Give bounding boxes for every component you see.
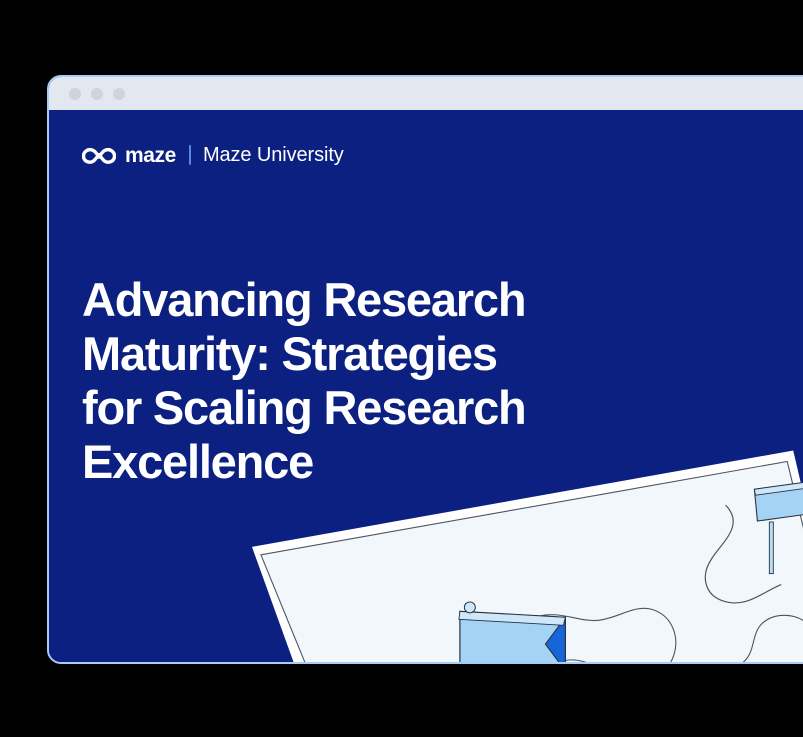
maze-logo-icon	[82, 145, 116, 165]
map-contents	[198, 505, 803, 662]
route-path-upper	[705, 505, 781, 603]
map-blob-right	[691, 615, 803, 662]
flag-face-foreground	[460, 611, 565, 662]
route-path-mid	[551, 646, 646, 662]
flag-background	[754, 480, 803, 573]
flag-finial-foreground	[464, 602, 475, 613]
maze-wordmark: maze	[125, 145, 176, 166]
brand-lockup: maze Maze University	[82, 142, 344, 168]
browser-title-bar	[49, 77, 803, 110]
flag-top-fold-foreground	[459, 611, 565, 625]
map-surface	[261, 461, 803, 662]
page-title: Advancing Research Maturity: Strategies …	[82, 273, 642, 489]
flag-face-background	[754, 481, 803, 521]
flag-shadow-shape	[751, 505, 803, 547]
flag-pole-background	[769, 522, 773, 574]
flag-foreground	[459, 602, 565, 662]
slide-canvas: maze Maze University Advancing Research …	[49, 110, 803, 662]
close-icon[interactable]	[69, 88, 81, 100]
flag-top-fold-background	[754, 481, 803, 495]
browser-window: maze Maze University Advancing Research …	[47, 75, 803, 664]
maximize-icon[interactable]	[113, 88, 125, 100]
screenshot-canvas: maze Maze University Advancing Research …	[0, 0, 803, 737]
brand-subtitle: Maze University	[203, 145, 344, 165]
brand-divider	[189, 145, 191, 165]
minimize-icon[interactable]	[91, 88, 103, 100]
map-blob-center	[515, 608, 676, 662]
flag-pole-foreground	[478, 646, 483, 662]
flag-notch-foreground	[545, 617, 565, 662]
